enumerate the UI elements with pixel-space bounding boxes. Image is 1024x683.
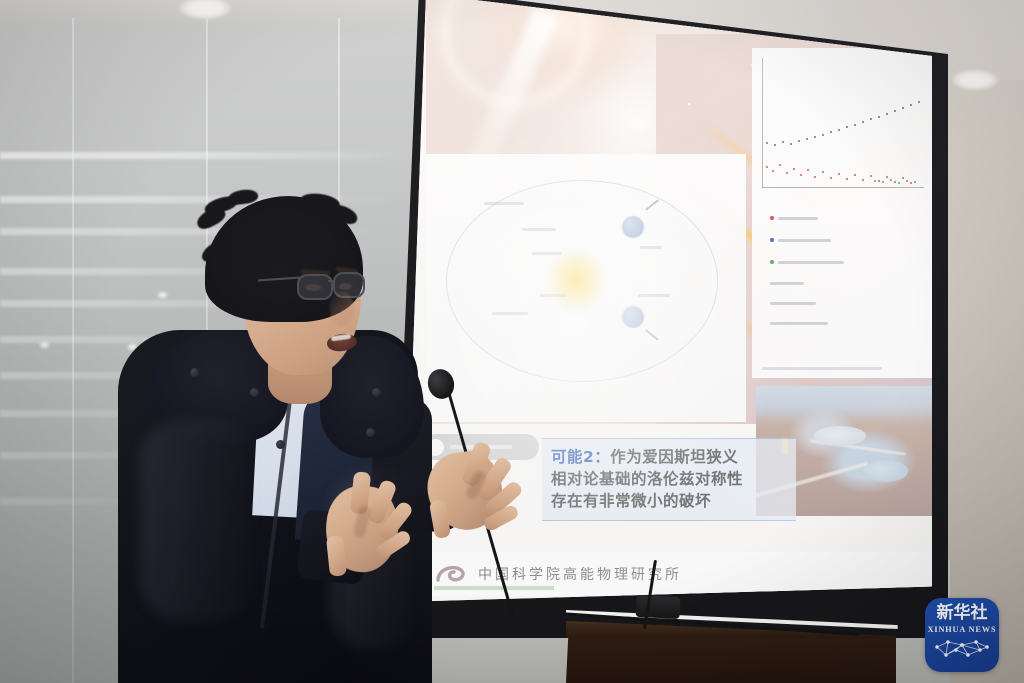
- photon-node-icon: [622, 216, 644, 238]
- chart-point: [878, 180, 880, 182]
- diagram-label: [640, 246, 662, 249]
- wall-light-streak: [0, 452, 175, 459]
- legend-label: [770, 282, 804, 285]
- chart-point: [766, 166, 768, 168]
- network-graphic-icon: [934, 638, 990, 664]
- chart-point: [814, 176, 816, 178]
- progress-bar[interactable]: [450, 445, 512, 449]
- chart-point: [807, 169, 809, 171]
- chart-legend-entry: [770, 238, 831, 242]
- diagram-label: [638, 294, 670, 297]
- chart-point: [886, 113, 888, 115]
- chart-point: [793, 168, 795, 170]
- watermark-chinese-text: 新华社: [937, 605, 988, 622]
- chart-caption: [762, 367, 882, 370]
- chart-point: [906, 180, 908, 182]
- legend-label: [778, 261, 844, 264]
- chart-point: [854, 124, 856, 126]
- diagram-label: [522, 228, 556, 231]
- chart-legend-entry: [770, 322, 828, 325]
- wall-light-streak: [0, 300, 360, 307]
- chart-point: [878, 116, 880, 118]
- chart-point: [898, 182, 900, 184]
- legend-label: [778, 217, 818, 220]
- ceiling-light-right: [952, 70, 998, 90]
- chart-point: [779, 164, 781, 166]
- spacetime-diagram-card: [426, 154, 746, 422]
- chart-point: [766, 142, 768, 144]
- diagram-label: [492, 312, 528, 315]
- wall-dot-reflection: [130, 398, 139, 404]
- chart-point: [886, 176, 888, 178]
- spectrum-chart-panel: [752, 48, 932, 378]
- wall-panel-seam: [338, 18, 340, 683]
- chart-point: [870, 175, 872, 177]
- wall-light-streak: [0, 196, 400, 203]
- legend-swatch: [770, 260, 774, 264]
- chart-point: [774, 144, 776, 146]
- diagram-label: [484, 202, 524, 205]
- chart-point: [782, 141, 784, 143]
- wall-panel-seam: [72, 18, 74, 683]
- chart-point: [800, 174, 802, 176]
- chart-point: [838, 173, 840, 175]
- chart-point: [838, 129, 840, 131]
- chart-point: [910, 182, 912, 184]
- wall-light-streak: [0, 410, 210, 417]
- chart-legend-entry: [770, 216, 818, 220]
- chart-point: [882, 181, 884, 183]
- watermark-english-text: XINHUA NEWS: [928, 625, 997, 634]
- chart-plot-area: [762, 58, 924, 188]
- wall-panel-seam: [206, 18, 208, 683]
- diagram-label: [540, 294, 566, 297]
- chart-point: [846, 126, 848, 128]
- chart-point: [902, 107, 904, 109]
- wall-light-streak: [0, 152, 420, 159]
- wall-light-streak: [0, 372, 260, 379]
- legend-label: [770, 322, 828, 325]
- chart-point: [786, 172, 788, 174]
- legend-swatch: [770, 238, 774, 242]
- chart-point: [772, 170, 774, 172]
- chart-legend-entry: [770, 302, 816, 305]
- source-glow-icon: [548, 250, 604, 312]
- chart-point: [830, 131, 832, 133]
- chart-point: [910, 104, 912, 106]
- photon-node-icon: [622, 306, 644, 328]
- wall-dot-reflection: [158, 292, 167, 298]
- chart-point: [890, 179, 892, 181]
- wall-light-streak: [0, 498, 150, 505]
- chart-point: [790, 143, 792, 145]
- callout-line-2: 相对论基础的洛伦兹对称性: [551, 468, 787, 490]
- chart-x-axis: [762, 187, 924, 188]
- chart-point: [918, 101, 920, 103]
- chart-point: [894, 181, 896, 183]
- chart-point: [854, 174, 856, 176]
- swoosh-logo: [434, 561, 468, 587]
- legend-swatch: [770, 216, 774, 220]
- wall-dot-reflection: [40, 342, 49, 348]
- chart-point: [830, 177, 832, 179]
- chart-point: [806, 138, 808, 140]
- chart-point: [874, 180, 876, 182]
- callout-keyword: 可能2：: [551, 448, 610, 466]
- callout-line-3: 存在有非常微小的破坏: [551, 490, 787, 512]
- chart-point: [822, 134, 824, 136]
- wall-light-streak: [0, 268, 330, 275]
- chart-point: [862, 121, 864, 123]
- video-player-chip[interactable]: [422, 434, 539, 460]
- chart-legend-entry: [770, 260, 844, 264]
- chart-y-axis: [762, 58, 763, 188]
- site-detector-pool: [814, 426, 866, 446]
- right-wall: [940, 80, 1024, 683]
- chart-point: [822, 171, 824, 173]
- microphone-base: [635, 595, 680, 619]
- chart-point: [914, 181, 916, 183]
- site-detector-pool: [864, 460, 908, 482]
- wall-dot-reflection: [128, 344, 137, 350]
- chart-point: [894, 110, 896, 112]
- chart-point: [870, 118, 872, 120]
- diagram-label: [532, 252, 562, 255]
- chart-point: [846, 178, 848, 180]
- chart-point: [902, 177, 904, 179]
- callout-line-1-rest: 作为爱因斯坦狭义: [610, 448, 738, 466]
- wall-light-streak: [0, 228, 380, 235]
- play-button-icon[interactable]: [427, 439, 444, 456]
- legend-label: [770, 302, 816, 305]
- xinhua-news-watermark: 新华社 XINHUA NEWS: [925, 598, 999, 672]
- chart-point: [862, 179, 864, 181]
- callout-line-1: 可能2：作为爱因斯坦狭义: [551, 446, 787, 468]
- chart-legend-entry: [770, 282, 804, 285]
- chart-point: [798, 140, 800, 142]
- legend-label: [778, 239, 831, 242]
- footer-accent-bar: [434, 586, 554, 590]
- slide-callout: 可能2：作为爱因斯坦狭义 相对论基础的洛伦兹对称性 存在有非常微小的破坏: [542, 438, 796, 521]
- chart-point: [814, 136, 816, 138]
- photo-scene: 可能2：作为爱因斯坦狭义 相对论基础的洛伦兹对称性 存在有非常微小的破坏 中国科…: [0, 0, 1024, 683]
